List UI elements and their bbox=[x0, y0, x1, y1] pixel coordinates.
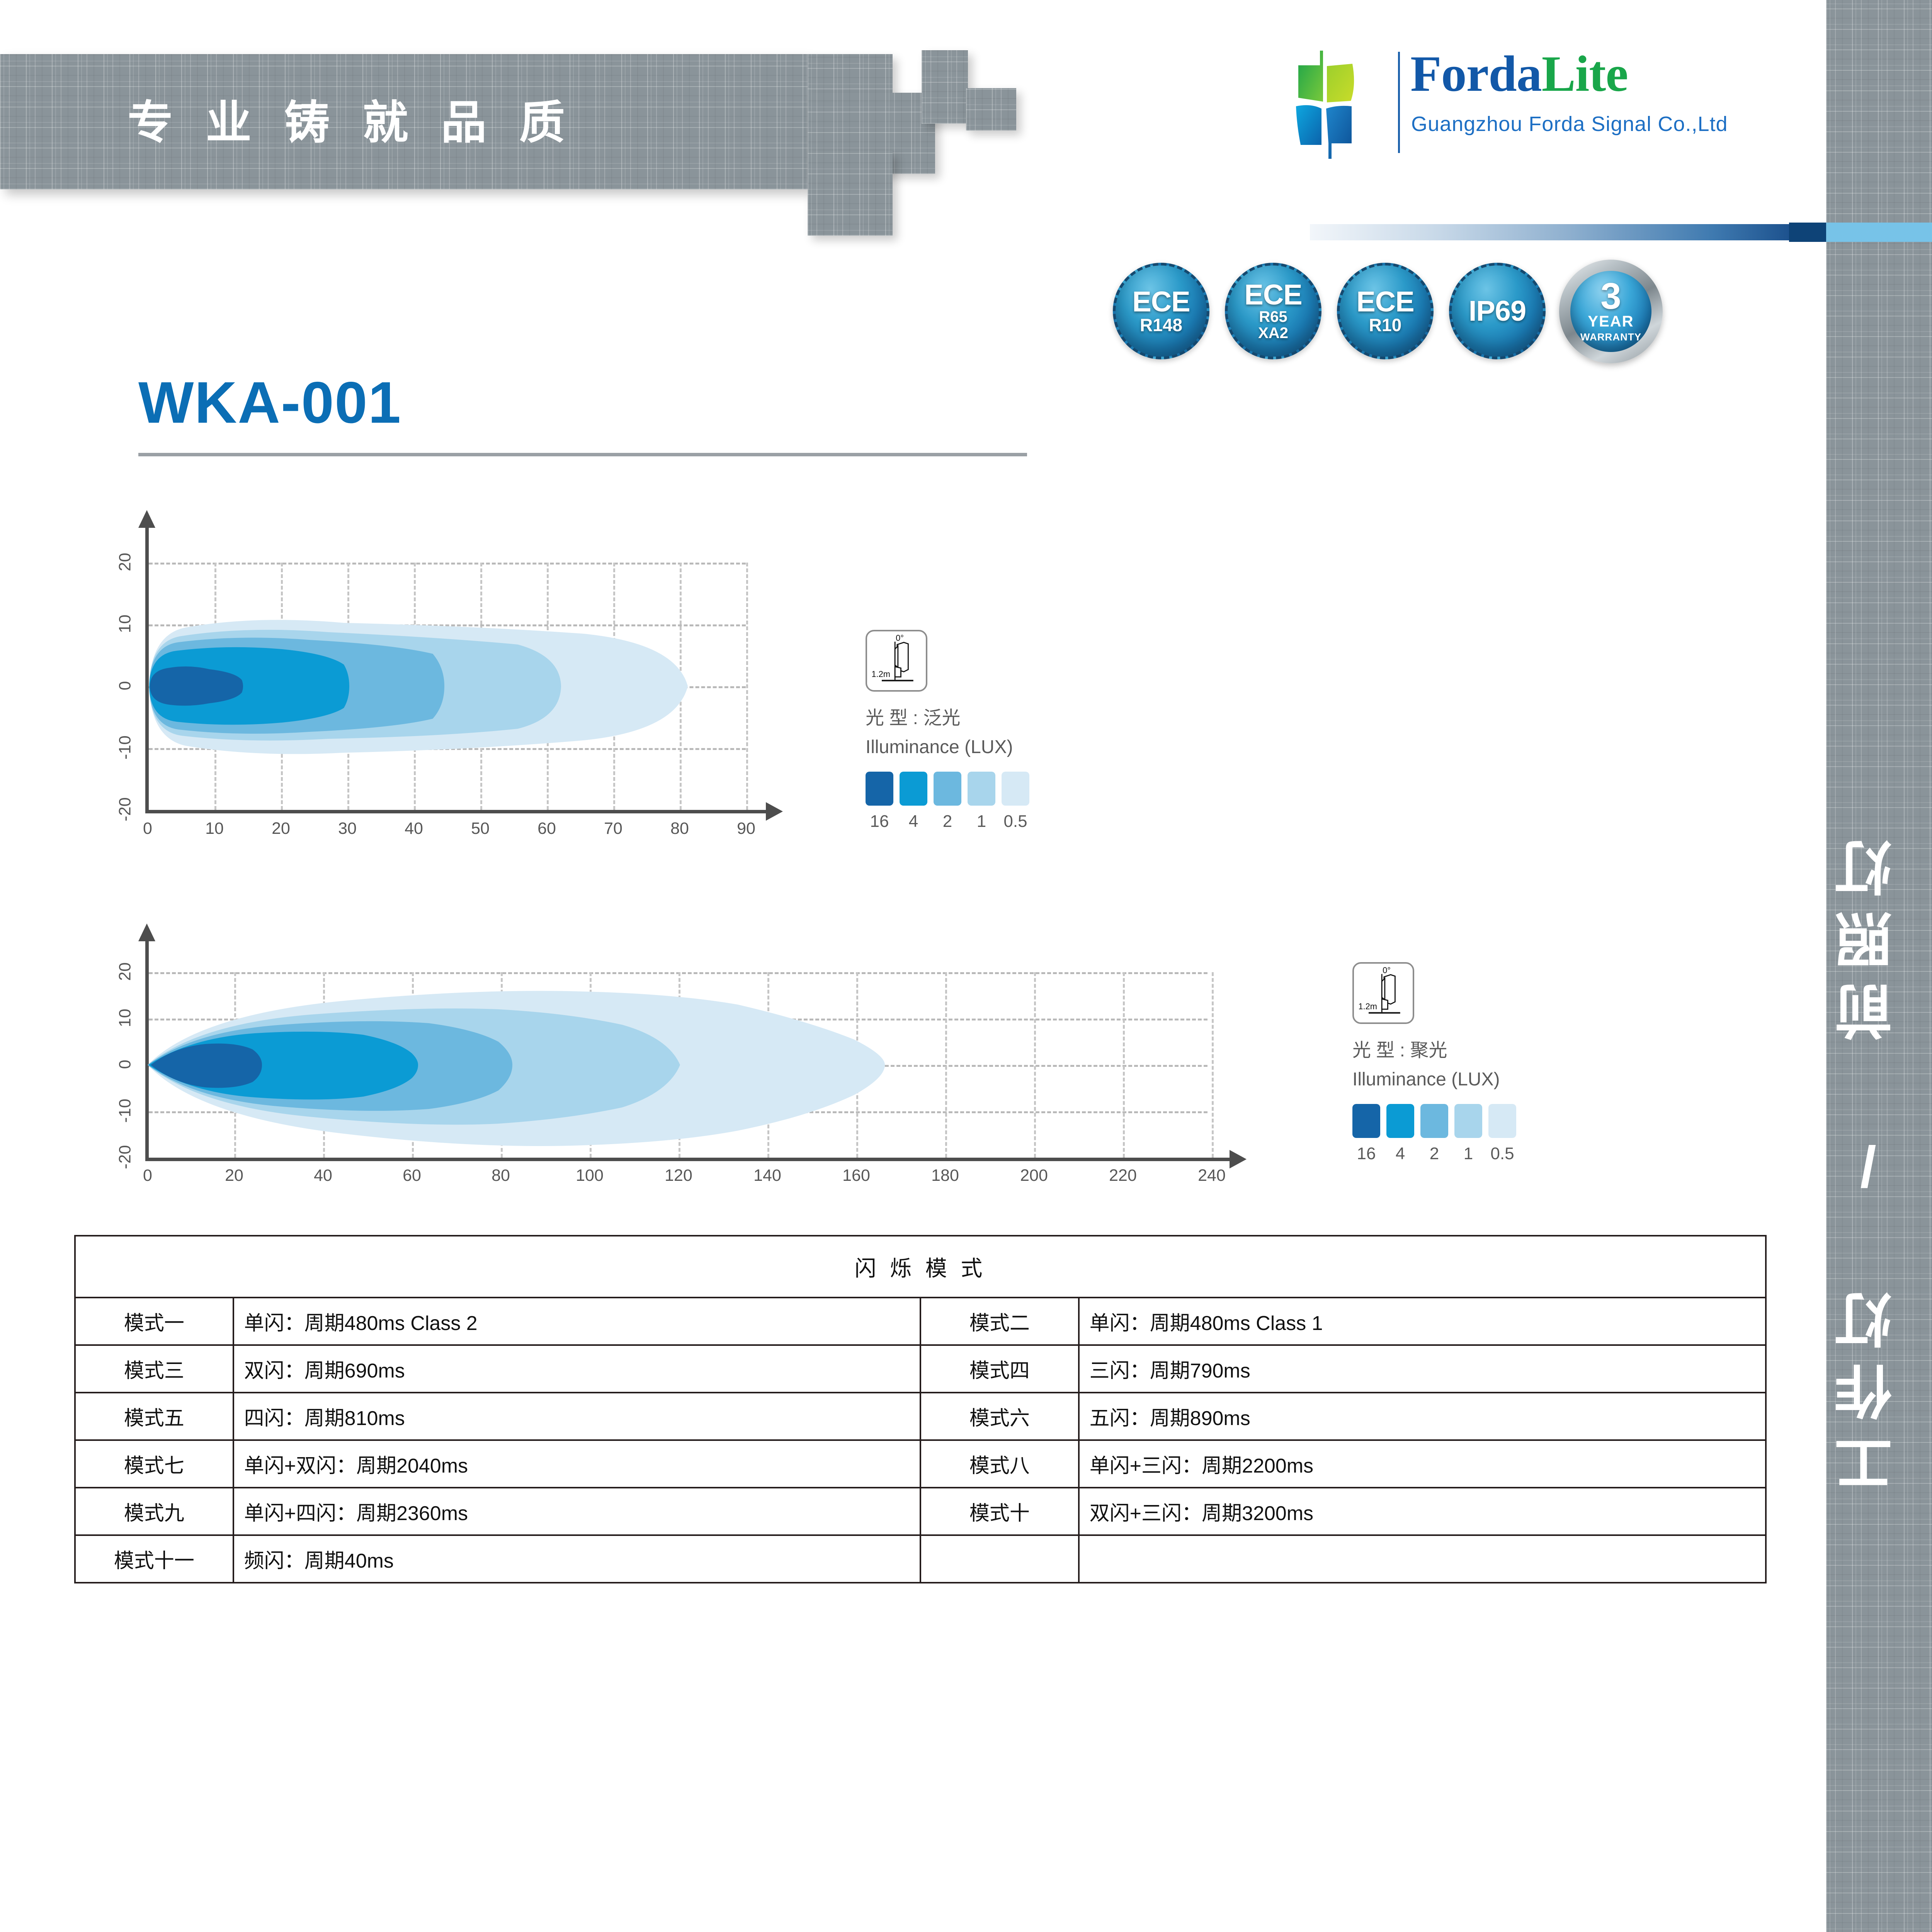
badge-line1: ECE bbox=[1356, 288, 1414, 316]
y-tick-label: 20 bbox=[116, 531, 135, 593]
badge-line3: XA2 bbox=[1258, 325, 1288, 341]
mode-description: 五闪：周期890ms bbox=[1079, 1393, 1766, 1440]
illuminance-unit-label: Illuminance (LUX) bbox=[866, 736, 1113, 758]
mode-description: 双闪：周期690ms bbox=[233, 1345, 920, 1393]
certification-badges: ECE R148 ECE R65 XA2 ECE R10 IP69 3 YEAR… bbox=[1113, 263, 1801, 371]
y-tick-label: -20 bbox=[116, 1126, 135, 1188]
header-banner-step-5 bbox=[966, 88, 1016, 131]
mode-label: 模式五 bbox=[75, 1393, 233, 1440]
x-tick-label: 160 bbox=[825, 1166, 887, 1185]
legend-swatches bbox=[866, 772, 1113, 806]
flood-beam-contours bbox=[128, 510, 784, 846]
mode-label: 模式十一 bbox=[75, 1535, 233, 1583]
logo-subtitle: Guangzhou Forda Signal Co.,Ltd bbox=[1411, 112, 1728, 136]
sidebar-category-label: 工作灯 / 前照灯 bbox=[1826, 696, 1932, 1623]
badge-ece-r148: ECE R148 bbox=[1113, 263, 1209, 359]
mode-description-empty bbox=[1079, 1535, 1766, 1583]
spot-beam-contours bbox=[128, 923, 1248, 1186]
mode-label: 模式四 bbox=[920, 1345, 1079, 1393]
legend-swatch-labels: 16 4 2 1 0.5 bbox=[866, 812, 1113, 831]
x-tick-label: 80 bbox=[470, 1166, 532, 1185]
legend-swatch-16 bbox=[1352, 1104, 1380, 1138]
legend-swatch-1 bbox=[968, 772, 995, 806]
x-tick-label: 220 bbox=[1092, 1166, 1154, 1185]
brand-logo: FordaLite Guangzhou Forda Signal Co.,Ltd bbox=[1294, 46, 1812, 162]
mode-label: 模式二 bbox=[920, 1298, 1079, 1345]
table-title: 闪 烁 模 式 bbox=[75, 1236, 1766, 1298]
table-row: 模式五 四闪：周期810ms 模式六 五闪：周期890ms bbox=[75, 1393, 1766, 1440]
mode-label: 模式八 bbox=[920, 1440, 1079, 1488]
mode-label: 模式三 bbox=[75, 1345, 233, 1393]
mode-description: 单闪：周期480ms Class 1 bbox=[1079, 1298, 1766, 1345]
table-row: 模式七 单闪+双闪：周期2040ms 模式八 单闪+三闪：周期2200ms bbox=[75, 1440, 1766, 1488]
badge-warranty: 3 YEAR WARRANTY bbox=[1559, 260, 1663, 363]
mode-label: 模式七 bbox=[75, 1440, 233, 1488]
x-tick-label: 100 bbox=[559, 1166, 621, 1185]
badge-line2: R65 bbox=[1259, 309, 1287, 325]
mode-description: 单闪+四闪：周期2360ms bbox=[233, 1488, 920, 1535]
legend-value: 0.5 bbox=[1002, 812, 1029, 831]
table-header-row: 闪 烁 模 式 bbox=[75, 1236, 1766, 1298]
page-title: WKA-001 bbox=[138, 369, 401, 437]
mounting-diagram-icon: 0° 1.2m bbox=[1352, 962, 1414, 1024]
x-tick-label: 240 bbox=[1181, 1166, 1243, 1185]
y-tick-label: -20 bbox=[116, 779, 135, 840]
legend-swatch-16 bbox=[866, 772, 893, 806]
badge-line1: ECE bbox=[1132, 288, 1190, 316]
mode-label: 模式九 bbox=[75, 1488, 233, 1535]
mode-description: 单闪+三闪：周期2200ms bbox=[1079, 1440, 1766, 1488]
legend-value: 4 bbox=[900, 812, 927, 831]
logo-wordmark: FordaLite bbox=[1410, 44, 1628, 103]
x-tick-label: 50 bbox=[449, 819, 511, 838]
table-row: 模式九 单闪+四闪：周期2360ms 模式十 双闪+三闪：周期3200ms bbox=[75, 1488, 1766, 1535]
legend-value: 2 bbox=[934, 812, 961, 831]
x-tick-label: 180 bbox=[914, 1166, 976, 1185]
legend-swatch-2 bbox=[934, 772, 961, 806]
legend-swatch-4 bbox=[1386, 1104, 1414, 1138]
logo-word-lite: Lite bbox=[1542, 45, 1628, 102]
y-tick-label: 0 bbox=[116, 655, 135, 717]
legend-value: 1 bbox=[968, 812, 995, 831]
table-row: 模式三 双闪：周期690ms 模式四 三闪：周期790ms bbox=[75, 1345, 1766, 1393]
mode-description: 四闪：周期810ms bbox=[233, 1393, 920, 1440]
svg-text:1.2m: 1.2m bbox=[1358, 1002, 1377, 1011]
legend-value: 16 bbox=[866, 812, 893, 831]
mode-label: 模式一 bbox=[75, 1298, 233, 1345]
legend-swatch-4 bbox=[900, 772, 927, 806]
beam-type-label: 光 型 : 聚光 bbox=[1352, 1035, 1600, 1062]
flood-beam-legend: 0° 1.2m 光 型 : 泛光 Illuminance (LUX) 16 4 … bbox=[866, 630, 1113, 831]
datasheet-page: 专 业 铸 就 品 质 bbox=[0, 0, 1932, 1932]
badge-line1: IP69 bbox=[1469, 297, 1526, 325]
x-tick-label: 70 bbox=[582, 819, 644, 838]
table-row: 模式十一 频闪：周期40ms bbox=[75, 1535, 1766, 1583]
x-tick-label: 60 bbox=[381, 1166, 443, 1185]
sidebar-navy-tab bbox=[1789, 223, 1826, 242]
legend-value: 2 bbox=[1420, 1144, 1448, 1163]
badge-line1: ECE bbox=[1244, 281, 1302, 309]
mode-description: 单闪：周期480ms Class 2 bbox=[233, 1298, 920, 1345]
svg-text:1.2m: 1.2m bbox=[871, 669, 890, 679]
title-divider bbox=[138, 453, 1027, 456]
x-tick-label: 30 bbox=[316, 819, 378, 838]
mode-description: 双闪+三闪：周期3200ms bbox=[1079, 1488, 1766, 1535]
badge-ece-r65-xa2: ECE R65 XA2 bbox=[1225, 263, 1321, 359]
x-tick-label: 80 bbox=[649, 819, 711, 838]
forda-cross-mark-icon bbox=[1294, 48, 1383, 160]
x-tick-label: 60 bbox=[516, 819, 578, 838]
warranty-unit: YEAR bbox=[1588, 313, 1634, 330]
y-tick-label: -10 bbox=[116, 717, 135, 779]
legend-swatch-2 bbox=[1420, 1104, 1448, 1138]
x-tick-label: 200 bbox=[1003, 1166, 1065, 1185]
logo-divider bbox=[1398, 52, 1400, 153]
badge-ece-r10: ECE R10 bbox=[1337, 263, 1434, 359]
legend-value: 4 bbox=[1386, 1144, 1414, 1163]
table-row: 模式一 单闪：周期480ms Class 2 模式二 单闪：周期480ms Cl… bbox=[75, 1298, 1766, 1345]
x-tick-label: 20 bbox=[250, 819, 312, 838]
spot-beam-legend: 0° 1.2m 光 型 : 聚光 Illuminance (LUX) 16 4 … bbox=[1352, 962, 1600, 1163]
badge-ip69: IP69 bbox=[1449, 263, 1546, 359]
header-banner-step-4 bbox=[922, 50, 968, 124]
legend-swatches bbox=[1352, 1104, 1600, 1138]
mode-label-empty bbox=[920, 1535, 1079, 1583]
flood-beam-chart: 0 10 20 30 40 50 60 70 80 90 20 10 0 -10… bbox=[128, 510, 784, 846]
svg-text:0°: 0° bbox=[896, 633, 904, 643]
logo-gradient-bar bbox=[1310, 224, 1826, 240]
legend-value: 0.5 bbox=[1488, 1144, 1516, 1163]
beam-type-label: 光 型 : 泛光 bbox=[866, 702, 1113, 730]
x-tick-label: 10 bbox=[184, 819, 245, 838]
header-banner-step-3 bbox=[808, 151, 893, 236]
logo-word-forda: Forda bbox=[1410, 45, 1542, 102]
mode-description: 频闪：周期40ms bbox=[233, 1535, 920, 1583]
spot-beam-chart: 0 20 40 60 80 100 120 140 160 180 200 22… bbox=[128, 923, 1248, 1186]
legend-swatch-labels: 16 4 2 1 0.5 bbox=[1352, 1144, 1600, 1163]
mode-label: 模式六 bbox=[920, 1393, 1079, 1440]
badge-line2: R10 bbox=[1369, 316, 1401, 334]
x-tick-label: 90 bbox=[715, 819, 777, 838]
illuminance-unit-label: Illuminance (LUX) bbox=[1352, 1069, 1600, 1090]
badge-line2: R148 bbox=[1140, 316, 1182, 334]
svg-text:0°: 0° bbox=[1383, 966, 1391, 975]
mode-description: 单闪+双闪：周期2040ms bbox=[233, 1440, 920, 1488]
y-tick-label: 10 bbox=[116, 593, 135, 655]
legend-value: 16 bbox=[1352, 1144, 1380, 1163]
legend-value: 1 bbox=[1454, 1144, 1482, 1163]
flash-mode-table: 闪 烁 模 式 模式一 单闪：周期480ms Class 2 模式二 单闪：周期… bbox=[74, 1235, 1767, 1583]
mode-label: 模式十 bbox=[920, 1488, 1079, 1535]
header-slogan: 专 业 铸 就 品 质 bbox=[128, 92, 707, 154]
x-tick-label: 120 bbox=[648, 1166, 709, 1185]
sidebar-blue-bar bbox=[1826, 223, 1932, 242]
mounting-diagram-icon: 0° 1.2m bbox=[866, 630, 927, 692]
x-tick-label: 20 bbox=[203, 1166, 265, 1185]
x-tick-label: 40 bbox=[292, 1166, 354, 1185]
x-tick-label: 140 bbox=[736, 1166, 798, 1185]
legend-swatch-1 bbox=[1454, 1104, 1482, 1138]
x-tick-label: 40 bbox=[383, 819, 445, 838]
legend-swatch-05 bbox=[1488, 1104, 1516, 1138]
warranty-label: WARRANTY bbox=[1580, 331, 1641, 343]
legend-swatch-05 bbox=[1002, 772, 1029, 806]
mode-description: 三闪：周期790ms bbox=[1079, 1345, 1766, 1393]
warranty-number: 3 bbox=[1600, 280, 1621, 313]
